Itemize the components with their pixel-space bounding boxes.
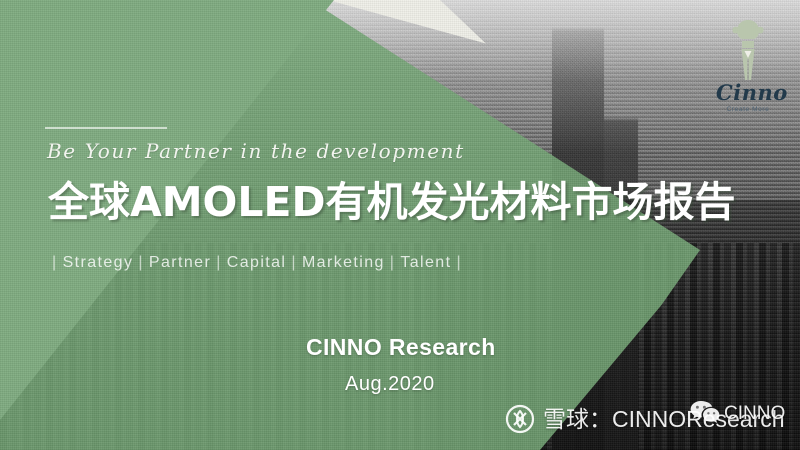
pillar-item-partner: Partner (149, 254, 211, 271)
xueqiu-logo-icon (505, 404, 535, 434)
pillar-separator: | (52, 254, 58, 271)
publish-date: Aug.2020 (345, 374, 435, 394)
pillars-list: |Strategy|Partner|Capital|Marketing|Tale… (47, 255, 467, 271)
report-cover-slide: Cinno Create More Be Your Partner in the… (0, 0, 800, 450)
pillar-item-marketing: Marketing (302, 254, 385, 271)
pillar-separator: | (216, 254, 222, 271)
wechat-watermark: CINNO (690, 400, 785, 426)
wechat-logo-icon (690, 400, 720, 426)
pillar-separator: | (138, 254, 144, 271)
pillar-item-capital: Capital (227, 254, 287, 271)
pillar-separator: | (291, 254, 297, 271)
pillar-item-strategy: Strategy (63, 254, 134, 271)
cicada-logo-icon (731, 18, 765, 84)
pillar-separator: | (456, 254, 462, 271)
divider-line (45, 127, 167, 129)
cinno-logo: Cinno Create More (716, 18, 780, 113)
wechat-watermark-text: CINNO (724, 404, 785, 423)
pillar-separator: | (390, 254, 396, 271)
pillar-item-talent: Talent (400, 254, 451, 271)
page-title: 全球AMOLED有机发光材料市场报告 (48, 182, 736, 223)
script-tagline: Be Your Partner in the development (47, 141, 465, 161)
cinno-tagline: Create More (716, 106, 780, 113)
brand-name: CINNO Research (306, 336, 496, 359)
cinno-wordmark: Cinno (716, 82, 780, 103)
